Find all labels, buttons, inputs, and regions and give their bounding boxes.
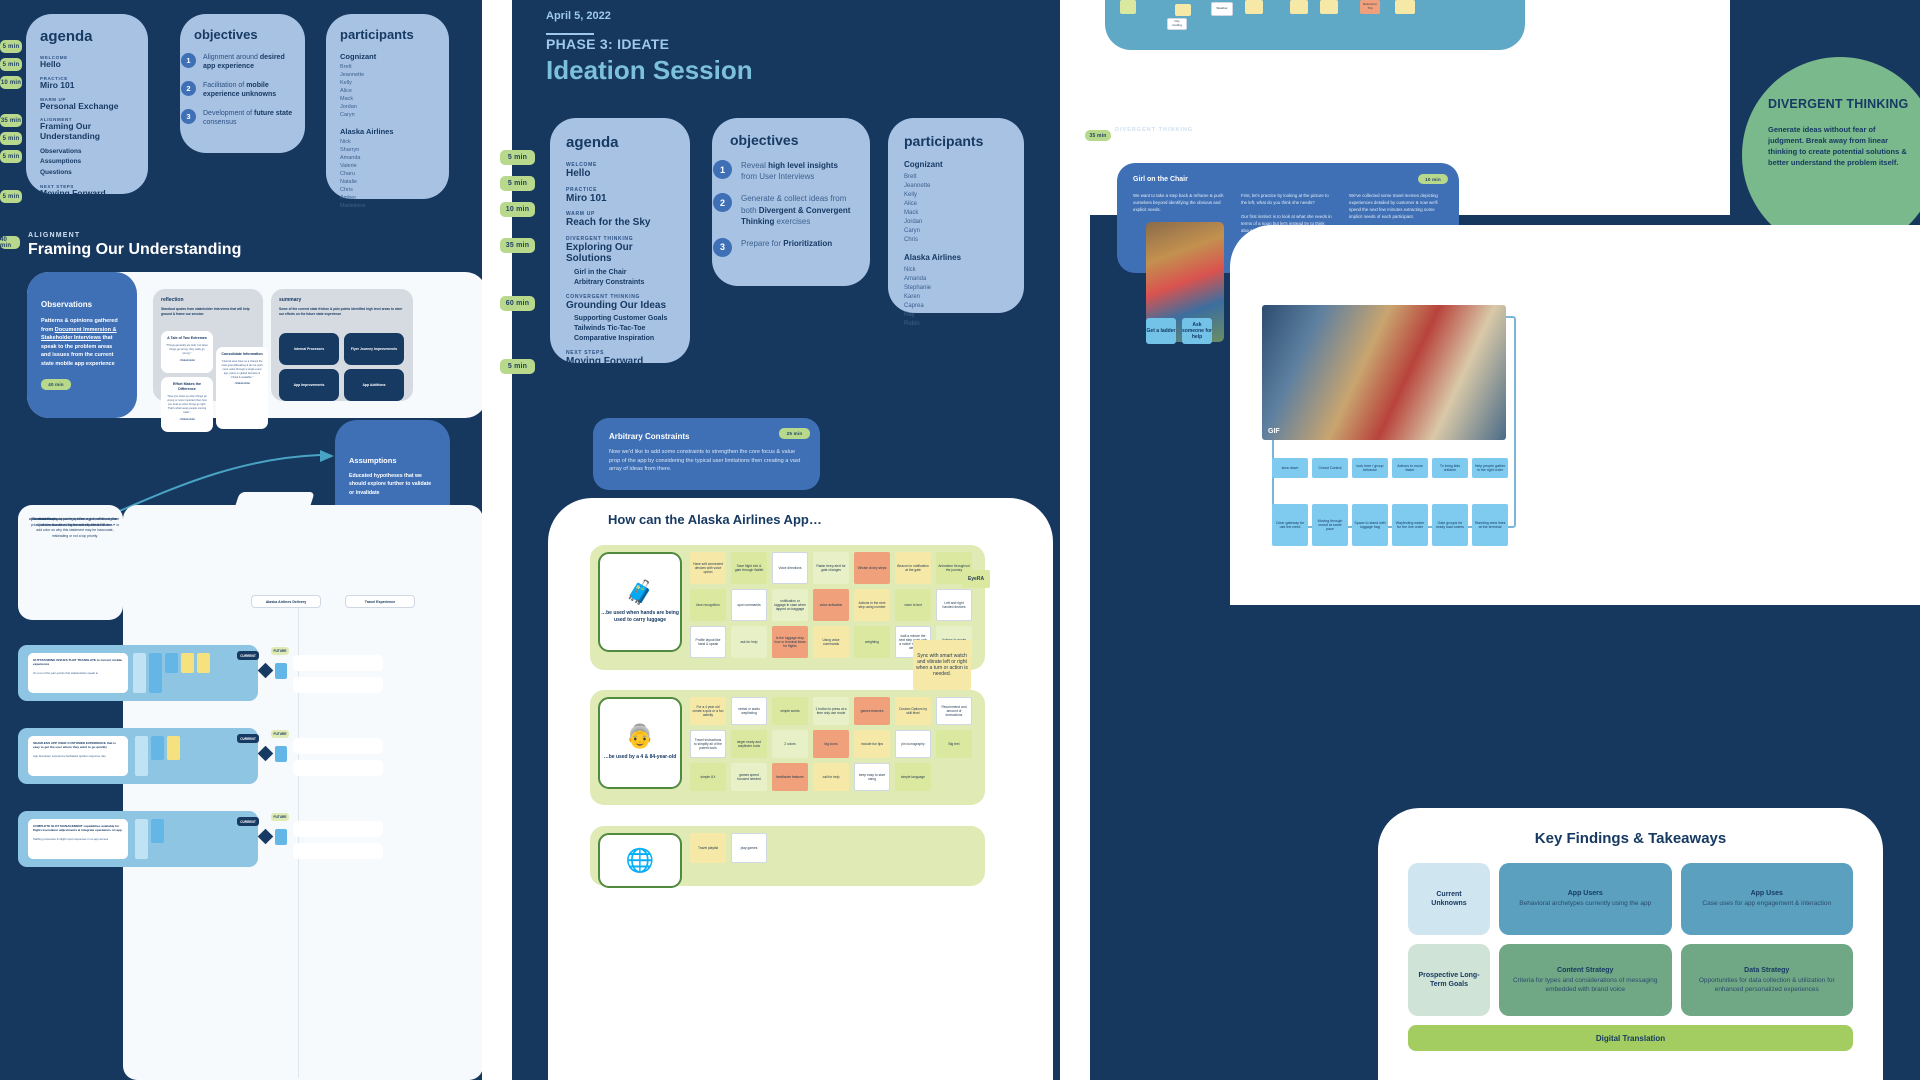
quote-attribution: - Stakeholder	[221, 382, 263, 386]
sticky-note[interactable]: larger ready and wayfinder tools	[731, 730, 767, 758]
sticky-note[interactable]: face recognition	[690, 589, 726, 621]
gif-sticky-cluster[interactable]: slow downCrowd Controllook here / group …	[1272, 458, 1516, 548]
observations-time-pill: 40 min	[41, 379, 71, 390]
agenda-item: Moving Forward	[566, 356, 674, 368]
objective-text: Reveal high level insights from User Int…	[741, 160, 856, 182]
section-eyebrow: ALIGNMENT	[28, 232, 241, 239]
sticky-note[interactable]: pin iconography	[895, 730, 931, 758]
top-sticky-strip: Weather Refund for Trip City Coding	[1115, 0, 1535, 22]
sticky-note[interactable]: Actions to move faster	[1392, 458, 1428, 478]
sticky-note[interactable]: Have self connected devices with voice o…	[690, 552, 726, 584]
card-title: App Uses	[1751, 889, 1783, 898]
flow-tab[interactable]: Travel Experience	[345, 595, 415, 608]
sticky-note[interactable]: simple words	[772, 697, 808, 725]
sticky-note[interactable]: Actions in the next step using number	[854, 589, 890, 621]
participant-group-name: Alaska Airlines	[904, 253, 1008, 262]
idea-prompt-text: …be used when hands are being used to ca…	[600, 610, 680, 623]
sticky-note[interactable]: verbal or audio wayfinding	[731, 697, 767, 725]
ideation-question: How can the Alaska Airlines App…	[608, 512, 822, 527]
participant-name: Sharryn	[340, 147, 435, 155]
sticky-note[interactable]: games speed focused needed	[731, 763, 767, 791]
participants-card: participants Cognizant BrettJeannetteKel…	[326, 14, 449, 199]
key-findings-row-label: Prospective Long-Term Goals	[1408, 944, 1490, 1016]
notes-line: We would like you to use ✦ to either agr…	[27, 515, 123, 541]
objective-text: Alignment around desired app experience	[203, 53, 293, 72]
sticky-note[interactable]: Crowd Control	[1312, 458, 1348, 478]
objectives-card: objectives 1 Reveal high level insights …	[712, 118, 870, 286]
quote-title: Effort Makes the Difference	[166, 382, 208, 392]
row-label-text: Prospective Long-Term Goals	[1418, 971, 1480, 989]
objective-row: 2 Generate & collect ideas from both Div…	[730, 193, 856, 227]
reflection-mini-card: reflection Standout quotes from stakehol…	[153, 289, 263, 401]
participant-name: Brett	[904, 173, 1008, 182]
sticky-note[interactable]: To bring kids children	[1432, 458, 1468, 478]
flow-row-note: Staffing processes & slight input respon…	[28, 837, 128, 841]
time-pill: 60 min	[500, 296, 535, 311]
card-title: Data Strategy	[1744, 966, 1789, 975]
agenda-subitem: What's Next?	[40, 205, 134, 212]
sticky-note[interactable]: 2 colors	[772, 730, 808, 758]
reflection-body: Standout quotes from stakeholder intervi…	[161, 307, 255, 317]
objective-row: 3 Development of future state consensus	[194, 109, 293, 128]
objective-text: Facilitation of mobile experience unknow…	[203, 81, 293, 100]
participant-group-name: Alaska Airlines	[340, 127, 435, 136]
sticky-note[interactable]: ask for help	[731, 626, 767, 658]
flow-chip-current: CURRENT	[237, 817, 259, 826]
participant-name: Chris	[904, 236, 1008, 245]
flow-row-note: App developer experience facilitated qui…	[28, 754, 128, 758]
participants-title: participants	[340, 27, 435, 42]
objective-number-badge: 2	[181, 81, 196, 96]
digital-translation-bar: Digital Translation	[1408, 1025, 1853, 1051]
agenda-item: Personal Exchange	[40, 102, 134, 112]
participant-name: Nick	[340, 139, 435, 147]
summary-tile: App Improvements	[279, 369, 339, 401]
key-findings-title: Key Findings & Takeaways	[1408, 830, 1853, 847]
participant-name: Alice	[340, 88, 435, 96]
title-rule	[546, 33, 594, 35]
agenda-subitem: Arbitrary Constraints	[574, 279, 674, 286]
girl-card-title: Girl on the Chair	[1133, 176, 1443, 183]
arbitrary-body: Now we'd like to add some constraints to…	[609, 448, 804, 474]
sticky-note[interactable]: For a 4 year old create a quiz or a fun …	[690, 697, 726, 725]
sticky-note[interactable]: spot commands	[731, 589, 767, 621]
objective-text: Generate & collect ideas from both Diver…	[741, 193, 856, 227]
assumptions-body: Educated hypotheses that we should explo…	[349, 472, 436, 497]
gif-label: GIF	[1268, 428, 1280, 435]
sticky-note[interactable]: voice activation	[813, 589, 849, 621]
quote-title: Consolidate Information	[221, 352, 263, 357]
participant-name: Nick	[904, 266, 1008, 275]
sticky-note[interactable]: Recommend and amount of instructions	[936, 697, 972, 725]
flow-row-title: COMPLETE SLOT MANAGEMENT capabilities av…	[33, 824, 122, 832]
section-eyebrow: DIVERGENT THINKING	[1115, 127, 1265, 133]
participant-name: Jeannette	[904, 182, 1008, 191]
panel-alignment-workshop: 5 min 5 min 10 min 35 min 5 min 5 min 5 …	[0, 0, 482, 1080]
sticky-note[interactable]: EyeRA	[962, 570, 990, 588]
sticky-note[interactable]: Beacon to notification at the gate	[895, 552, 931, 584]
objective-number-badge: 3	[713, 238, 732, 257]
summary-tile: App Additions	[344, 369, 404, 401]
agenda-subitem: Tailwinds Tic-Tac-Toe	[574, 325, 674, 332]
sticky-note[interactable]: simple UX	[690, 763, 726, 791]
agenda-time-pill-column: 5 min 5 min 10 min 35 min 60 min 5 min	[500, 150, 535, 374]
participant-name: Natalie	[340, 179, 435, 187]
summary-title: summary	[279, 297, 405, 303]
globe-icon: 🌐	[626, 849, 655, 872]
time-pill: 35 min	[0, 114, 22, 127]
quote-card: A Tale of Two Extremes "Things generally…	[161, 331, 213, 373]
key-findings-grid: Current Unknowns App Users Behavioral ar…	[1408, 863, 1853, 1016]
luggage-icon: 🧳	[626, 581, 655, 604]
sticky-note-cluster[interactable]: For a 4 year old create a quiz or a fun …	[690, 697, 978, 792]
key-findings-card: Key Findings & Takeaways Current Unknown…	[1378, 808, 1883, 1080]
agenda-item: Moving Forward	[40, 189, 134, 199]
participant-name: Amanda	[340, 155, 435, 163]
miro-board-canvas[interactable]: 5 min 5 min 10 min 35 min 5 min 5 min 5 …	[0, 0, 1920, 1080]
flow-chip-current: CURRENT	[237, 734, 259, 743]
sticky-note[interactable]: Travel instructions to simplify all of t…	[690, 730, 726, 758]
key-finding-card: App Uses Case uses for app engagement & …	[1681, 863, 1854, 935]
panel-gutter	[1060, 0, 1090, 1080]
participant-name: Caryn	[904, 227, 1008, 236]
session-date: April 5, 2022	[546, 10, 611, 22]
sticky-note[interactable]: play games	[731, 833, 767, 863]
sticky-note[interactable]: Standing area lines at the terminal	[1472, 504, 1508, 546]
sticky-note[interactable]: simple language	[895, 763, 931, 791]
agenda-item: Exploring Our Solutions	[566, 242, 674, 265]
circle-title: DIVERGENT THINKING	[1768, 97, 1912, 113]
participant-name: Valerie	[340, 163, 435, 171]
sticky-note[interactable]: Clear gateway for use the need	[1272, 504, 1308, 546]
objectives-title: objectives	[730, 132, 856, 148]
girl-card-answer-buttons[interactable]: Get a ladder Ask someone for help	[1146, 318, 1212, 344]
agenda-item: Grounding Our Ideas	[566, 300, 674, 312]
circle-body: Generate ideas without fear of judgment.…	[1768, 124, 1912, 169]
arbitrary-constraints-card: Arbitrary Constraints 25 min Now we'd li…	[593, 418, 820, 490]
card-body: Behavioral archetypes currently using th…	[1519, 900, 1651, 909]
sticky-note[interactable]: notification or luggage in case when tap…	[772, 589, 808, 621]
time-pill: 5 min	[0, 190, 22, 203]
participant-name: Kelly	[340, 80, 435, 88]
section-heading: ALIGNMENT Framing Our Understanding	[28, 232, 241, 259]
time-pill: 5 min	[0, 132, 22, 145]
summary-body: Some of the current state friction & pai…	[279, 307, 405, 317]
participant-name: Amanda	[904, 275, 1008, 284]
sticky-note[interactable]: Radar beep alert for gate changes	[813, 552, 849, 584]
summary-mini-card: summary Some of the current state fricti…	[271, 289, 413, 401]
card-body: Criteria for types and considerations of…	[1509, 977, 1662, 995]
sticky-note[interactable]: 1 button to press at a time only use mod…	[813, 697, 849, 725]
objective-number-badge: 3	[181, 109, 196, 124]
sticky-note[interactable]: Vibrate at key steps	[854, 552, 890, 584]
observations-title: Observations	[41, 300, 123, 309]
sticky-note[interactable]: weighting	[854, 626, 890, 658]
flow-chip-current: CURRENT	[237, 651, 259, 660]
idea-prompt-luggage: 🧳 …be used when hands are being used to …	[598, 552, 682, 652]
objectives-title: objectives	[194, 27, 293, 42]
summary-tile: Internal Processes	[279, 333, 339, 365]
agenda-subitem: Assumptions	[40, 158, 134, 165]
idea-prompt-text: …be used by a 4 & 84-year-old	[604, 754, 677, 761]
session-heading: Ideation Session	[546, 55, 753, 86]
participant-list: NickSharrynAmandaValerieCharuNatalieChri…	[340, 139, 435, 211]
observations-body: Patterns & opinions gathered from Docume…	[41, 317, 123, 368]
sticky-note[interactable]: slow down	[1272, 458, 1308, 478]
agenda-item: Hello	[566, 168, 674, 180]
agenda-card: agenda WELCOME Hello PRACTICE Miro 101 W…	[26, 14, 148, 194]
agenda-item: Miro 101	[40, 81, 134, 91]
participant-name: Amber	[340, 195, 435, 203]
participant-name: Ray	[904, 311, 1008, 320]
section-heading: DIVERGENT THINKING Exploring Our Solutio…	[1115, 127, 1265, 150]
section-title: Exploring Our Solutions	[1115, 135, 1265, 150]
participant-name: Brett	[340, 64, 435, 72]
quote-body: "Internal uses have so a chance the most…	[221, 360, 263, 379]
sticky-note[interactable]: Big text	[936, 730, 972, 758]
sticky-note[interactable]: Sync with smart watch and vibrate left o…	[913, 640, 971, 690]
sticky-note[interactable]: Voice directions	[772, 552, 808, 584]
flow-row-note: It's a lot of the pain points that stake…	[28, 671, 128, 675]
agenda-item: Framing Our Understanding	[40, 122, 134, 142]
flow-current-box: OUTSTANDING ISSUES THAT TRANSLATE to cur…	[28, 653, 128, 693]
quote-attribution: - Stakeholder	[166, 359, 208, 363]
agenda-title: agenda	[40, 28, 134, 45]
card-title: App Users	[1568, 889, 1603, 898]
agenda-subitem: Comparative Inspiration	[574, 335, 674, 342]
participant-name: Karen	[904, 293, 1008, 302]
time-pill: 5 min	[0, 40, 22, 53]
agenda-subitem: Observations	[40, 148, 134, 155]
idea-prompt-third: 🌐	[598, 833, 682, 888]
flow-chip-future: FUTURE	[271, 730, 289, 738]
participant-list: NickAmandaStephanieKarenCapreaRayRobin	[904, 266, 1008, 329]
time-pill: 5 min	[0, 150, 22, 163]
participant-list: BrettJeannetteKellyAliceMackJordanCaryn	[340, 64, 435, 120]
idea-prompt-ages: 👵 …be used by a 4 & 84-year-old	[598, 697, 682, 789]
assumptions-title: Assumptions	[349, 456, 436, 465]
objective-text: Development of future state consensus	[203, 109, 293, 128]
time-pill: 10 min	[500, 202, 535, 217]
sticky-note[interactable]: Using voice commands	[813, 626, 849, 658]
girl-card-time-pill: 10 min	[1418, 174, 1448, 184]
sticky-note[interactable]: call for help	[813, 763, 849, 791]
answer-button-help[interactable]: Ask someone for help	[1182, 318, 1212, 344]
session-phase: PHASE 3: IDEATE	[546, 36, 669, 52]
participants-card: participants Cognizant BrettJeannetteKel…	[888, 118, 1024, 313]
sticky-note[interactable]: Save flight info & gate through Wallet	[731, 552, 767, 584]
quote-title: A Tale of Two Extremes	[166, 336, 208, 341]
objectives-card: objectives 1 Alignment around desired ap…	[180, 14, 305, 153]
participant-name: Madeleine	[340, 203, 435, 211]
sticky-note[interactable]: games features	[854, 697, 890, 725]
time-pill: 5 min	[0, 58, 22, 71]
participant-name: Stephanie	[904, 284, 1008, 293]
time-pill: 5 min	[500, 150, 535, 165]
summary-tile: Flyer Journey Improvements	[344, 333, 404, 365]
sticky-note[interactable]: keep easy to start using	[854, 763, 890, 791]
sticky-note[interactable]: familiarize features	[772, 763, 808, 791]
journey-flow-board[interactable]: Alaska Airlines Delivery Travel Experien…	[123, 505, 482, 1080]
participant-name: Jeannette	[340, 72, 435, 80]
sticky-note[interactable]: Profile layout like hand & speak	[690, 626, 726, 658]
flow-chip-future: FUTURE	[271, 647, 289, 655]
time-pill: 5 min	[500, 176, 535, 191]
participant-name: Kelly	[904, 191, 1008, 200]
agenda-item: Reach for the Sky	[566, 217, 674, 229]
observations-card: Observations Patterns & opinions gathere…	[27, 272, 137, 418]
time-pill: 5 min	[500, 359, 535, 374]
agenda-card: agenda WELCOME Hello PRACTICE Miro 101 W…	[550, 118, 690, 363]
participant-name: Charu	[340, 171, 435, 179]
section-time-pill: 40 min	[0, 236, 20, 249]
flow-current-box: COMPLETE SLOT MANAGEMENT capabilities av…	[28, 819, 128, 859]
sticky-note[interactable]: Help people gather in the right order	[1472, 458, 1508, 478]
objective-number-badge: 1	[713, 160, 732, 179]
card-body: Case uses for app engagement & interacti…	[1702, 900, 1831, 909]
participant-name: Mack	[904, 209, 1008, 218]
participant-list: BrettJeannetteKellyAliceMackJordanCarynC…	[904, 173, 1008, 245]
agenda-subitem: Supporting Customer Goals	[574, 315, 674, 322]
objective-row: 1 Alignment around desired app experienc…	[194, 53, 293, 72]
participant-name: Alice	[904, 200, 1008, 209]
flow-tab[interactable]: Alaska Airlines Delivery	[251, 595, 321, 608]
sticky-note[interactable]: Gate groups for ready load orders	[1432, 504, 1468, 546]
participant-group-name: Cognizant	[904, 160, 1008, 169]
reflection-title: reflection	[161, 297, 255, 303]
gif-image: GIF	[1262, 305, 1506, 440]
elderly-person-icon: 👵	[626, 725, 655, 748]
time-pill: 35 min	[500, 238, 535, 253]
participant-name: Robin	[904, 320, 1008, 329]
sticky-note[interactable]: Is the luggage drop how or terminal idea…	[772, 626, 808, 658]
key-finding-card: Content Strategy Criteria for types and …	[1499, 944, 1672, 1016]
sticky-note-cluster[interactable]: Travel playlistplay games	[690, 833, 978, 881]
agenda-subitem: Girl in the Chair	[574, 269, 674, 276]
participants-title: participants	[904, 133, 1008, 149]
agenda-title: agenda	[566, 134, 674, 151]
agenda-item: Miro 101	[566, 193, 674, 205]
section-title: Framing Our Understanding	[28, 241, 241, 259]
participant-group-name: Cognizant	[340, 52, 435, 61]
key-finding-card: App Users Behavioral archetypes currentl…	[1499, 863, 1672, 935]
sticky-note[interactable]: big icons	[813, 730, 849, 758]
objective-row: 2 Facilitation of mobile experience unkn…	[194, 81, 293, 100]
objective-number-badge: 1	[181, 53, 196, 68]
quote-body: "Things generally are built, but when th…	[166, 344, 208, 356]
key-finding-card: Data Strategy Opportunities for data col…	[1681, 944, 1854, 1016]
sticky-note[interactable]: include fun tips	[854, 730, 890, 758]
participant-name: Jordan	[904, 218, 1008, 227]
objective-row: 1 Reveal high level insights from User I…	[730, 160, 856, 182]
participant-name: Jordan	[340, 104, 435, 112]
objective-text: Prepare for Prioritization	[741, 238, 832, 249]
arbitrary-title: Arbitrary Constraints	[609, 432, 804, 441]
flow-row-title: OUTSTANDING ISSUES THAT TRANSLATE to cur…	[33, 658, 122, 666]
row-label-text: Current Unknowns	[1418, 890, 1480, 908]
agenda-time-pill-column: 5 min 5 min 10 min 35 min 5 min 5 min 5 …	[0, 40, 22, 208]
participant-name: Caryn	[340, 112, 435, 120]
flow-current-box: SEAMLESS APP USER CUSTOMER EXPERIENCE th…	[28, 736, 128, 776]
objective-row: 3 Prepare for Prioritization	[730, 238, 856, 257]
sticky-note[interactable]: Custom Options by skill level	[895, 697, 931, 725]
answer-button-ladder[interactable]: Get a ladder	[1146, 318, 1176, 344]
participant-name: Mack	[340, 96, 435, 104]
key-findings-row-label: Current Unknowns	[1408, 863, 1490, 935]
card-body: Opportunities for data collection & util…	[1691, 977, 1844, 995]
objective-number-badge: 2	[713, 193, 732, 212]
participant-name: Caprea	[904, 302, 1008, 311]
sticky-note[interactable]: look here / group behavior	[1352, 458, 1388, 478]
section-time-pill: 35 min	[1085, 130, 1111, 141]
flow-row-title: SEAMLESS APP USER CUSTOMER EXPERIENCE th…	[33, 741, 116, 749]
sticky-note[interactable]: Travel playlist	[690, 833, 726, 863]
participant-name: Chris	[340, 187, 435, 195]
card-title: Content Strategy	[1557, 966, 1613, 975]
flow-chip-future: FUTURE	[271, 813, 289, 821]
sticky-note[interactable]: Space to stand with luggage bag	[1352, 504, 1388, 546]
agenda-item: Hello	[40, 60, 134, 70]
agenda-subitem: Questions	[40, 169, 134, 176]
arbitrary-time-pill: 25 min	[779, 428, 810, 439]
sticky-note[interactable]: Moving through crowd at same pace	[1312, 504, 1348, 546]
sticky-note[interactable]: Wayfinding easier for the line order	[1392, 504, 1428, 546]
instructions-note-card: up or downwards Numbered and goal statem…	[18, 505, 123, 620]
sticky-note[interactable]: voice to text	[895, 589, 931, 621]
sticky-note[interactable]: Left and right handed devices	[936, 589, 972, 621]
time-pill: 10 min	[0, 76, 22, 89]
